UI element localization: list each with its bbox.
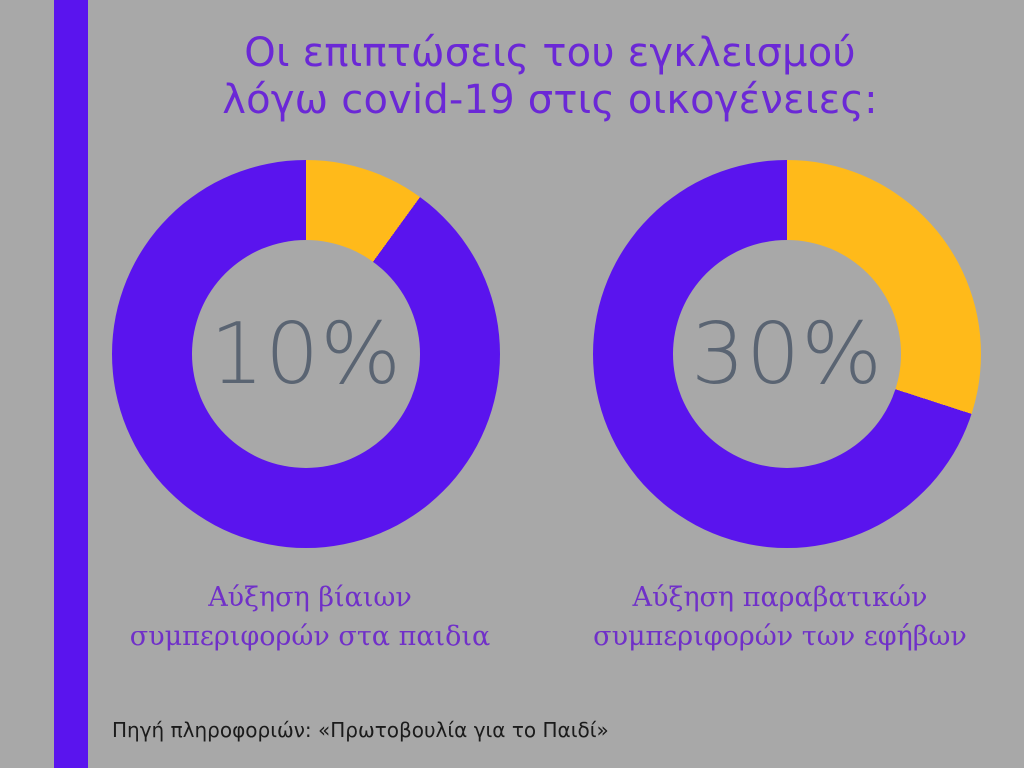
charts-row: 10% 30% (0, 160, 1024, 550)
page-title-line-1: Οι επιπτώσεις του εγκλεισμού (100, 30, 1000, 77)
infographic-canvas: Οι επιπτώσεις του εγκλεισμού λόγω covid-… (0, 0, 1024, 768)
chart-caption-right: Αύξηση παραβατικών συμπεριφορών των εφήβ… (545, 578, 1015, 656)
donut-chart-delinquent-behaviour: 30% (593, 160, 981, 548)
chart-caption-right-line-2: συμπεριφορών των εφήβων (545, 617, 1015, 656)
donut-value-label: 30% (691, 312, 883, 397)
chart-caption-left-line-1: Αύξηση βίαιων (90, 578, 530, 617)
page-title-line-2: λόγω covid-19 στις οικογένειες: (100, 77, 1000, 124)
donut-chart-violent-behaviour: 10% (112, 160, 500, 548)
donut-value-label: 10% (210, 312, 402, 397)
source-note: Πηγή πληροφοριών: «Πρωτοβουλία για το Πα… (112, 718, 609, 742)
chart-caption-right-line-1: Αύξηση παραβατικών (545, 578, 1015, 617)
donut-center: 30% (673, 240, 901, 468)
chart-caption-left: Αύξηση βίαιων συμπεριφορών στα παιδια (90, 578, 530, 656)
page-title: Οι επιπτώσεις του εγκλεισμού λόγω covid-… (100, 30, 1000, 124)
donut-center: 10% (192, 240, 420, 468)
chart-caption-left-line-2: συμπεριφορών στα παιδια (90, 617, 530, 656)
